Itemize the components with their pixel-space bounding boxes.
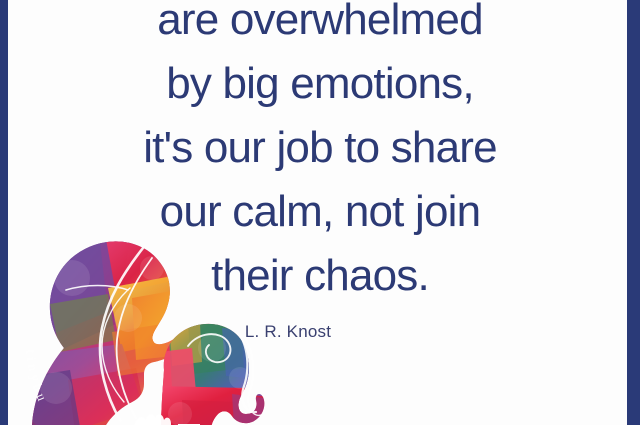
quote-attribution: L. R. Knost — [60, 322, 516, 342]
quote-block: are overwhelmed by big emotions, it's ou… — [60, 0, 580, 342]
quote-graphic-canvas: tinybu are overwhelmed by big emotions, … — [0, 0, 640, 425]
left-border-stripe — [0, 0, 8, 425]
quote-line-5: their chaos. — [60, 244, 580, 308]
quote-line-3: it's our job to share — [60, 116, 580, 180]
quote-line-2: by big emotions, — [60, 52, 580, 116]
right-border-stripe — [627, 0, 640, 425]
quote-line-1: are overwhelmed — [60, 0, 580, 52]
quote-line-4: our calm, not join — [60, 180, 580, 244]
